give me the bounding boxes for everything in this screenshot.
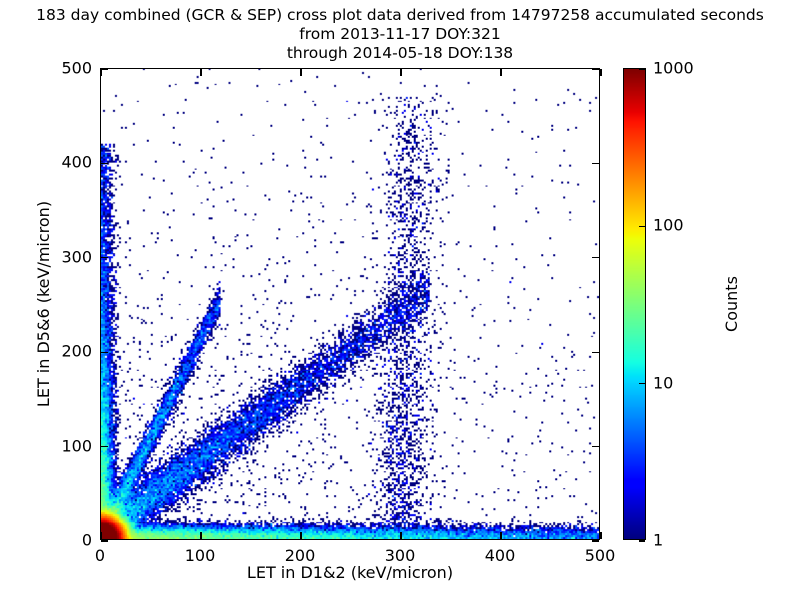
colorbar-tick-label-1000: 1000 bbox=[653, 59, 694, 78]
y-tick-0 bbox=[101, 540, 108, 541]
colorbar-gradient bbox=[624, 69, 645, 539]
x-tick-500 bbox=[600, 532, 601, 539]
x-tick-300 bbox=[400, 532, 401, 539]
title-line-2: from 2013-11-17 DOY:321 bbox=[0, 25, 800, 44]
x-tick-200 bbox=[300, 532, 301, 539]
y-axis-label: LET in D5&6 (keV/micron) bbox=[34, 68, 53, 540]
title-line-1: 183 day combined (GCR & SEP) cross plot … bbox=[0, 6, 800, 25]
colorbar-label: Counts bbox=[722, 68, 741, 540]
density-scatter-plot bbox=[101, 69, 599, 539]
y-tick-100 bbox=[101, 446, 108, 447]
colorbar-tick-10 bbox=[639, 383, 645, 384]
colorbar-tick-1000 bbox=[639, 68, 645, 69]
x-tick-100 bbox=[200, 532, 201, 539]
x-tick-0 bbox=[100, 69, 101, 76]
figure-canvas: 183 day combined (GCR & SEP) cross plot … bbox=[0, 0, 800, 600]
plot-area bbox=[100, 68, 600, 540]
y-tick-200 bbox=[592, 352, 599, 353]
y-tick-200 bbox=[101, 352, 108, 353]
x-tick-400 bbox=[500, 532, 501, 539]
colorbar-tick-100 bbox=[639, 226, 645, 227]
y-tick-0 bbox=[592, 540, 599, 541]
colorbar-tick-label-10: 10 bbox=[653, 373, 673, 392]
chart-title: 183 day combined (GCR & SEP) cross plot … bbox=[0, 6, 800, 63]
y-tick-500 bbox=[101, 68, 108, 69]
colorbar-tick-label-100: 100 bbox=[653, 216, 684, 235]
x-tick-300 bbox=[400, 69, 401, 76]
y-tick-100 bbox=[592, 446, 599, 447]
y-tick-300 bbox=[592, 257, 599, 258]
y-tick-400 bbox=[592, 163, 599, 164]
y-tick-400 bbox=[101, 163, 108, 164]
x-axis-label: LET in D1&2 (keV/micron) bbox=[100, 563, 600, 582]
colorbar-tick-label-1: 1 bbox=[653, 531, 663, 550]
x-tick-0 bbox=[100, 532, 101, 539]
colorbar bbox=[623, 68, 646, 540]
y-tick-300 bbox=[101, 257, 108, 258]
x-tick-400 bbox=[500, 69, 501, 76]
colorbar-tick-1 bbox=[639, 540, 645, 541]
x-tick-100 bbox=[200, 69, 201, 76]
y-tick-500 bbox=[592, 68, 599, 69]
x-tick-200 bbox=[300, 69, 301, 76]
x-tick-500 bbox=[600, 69, 601, 76]
